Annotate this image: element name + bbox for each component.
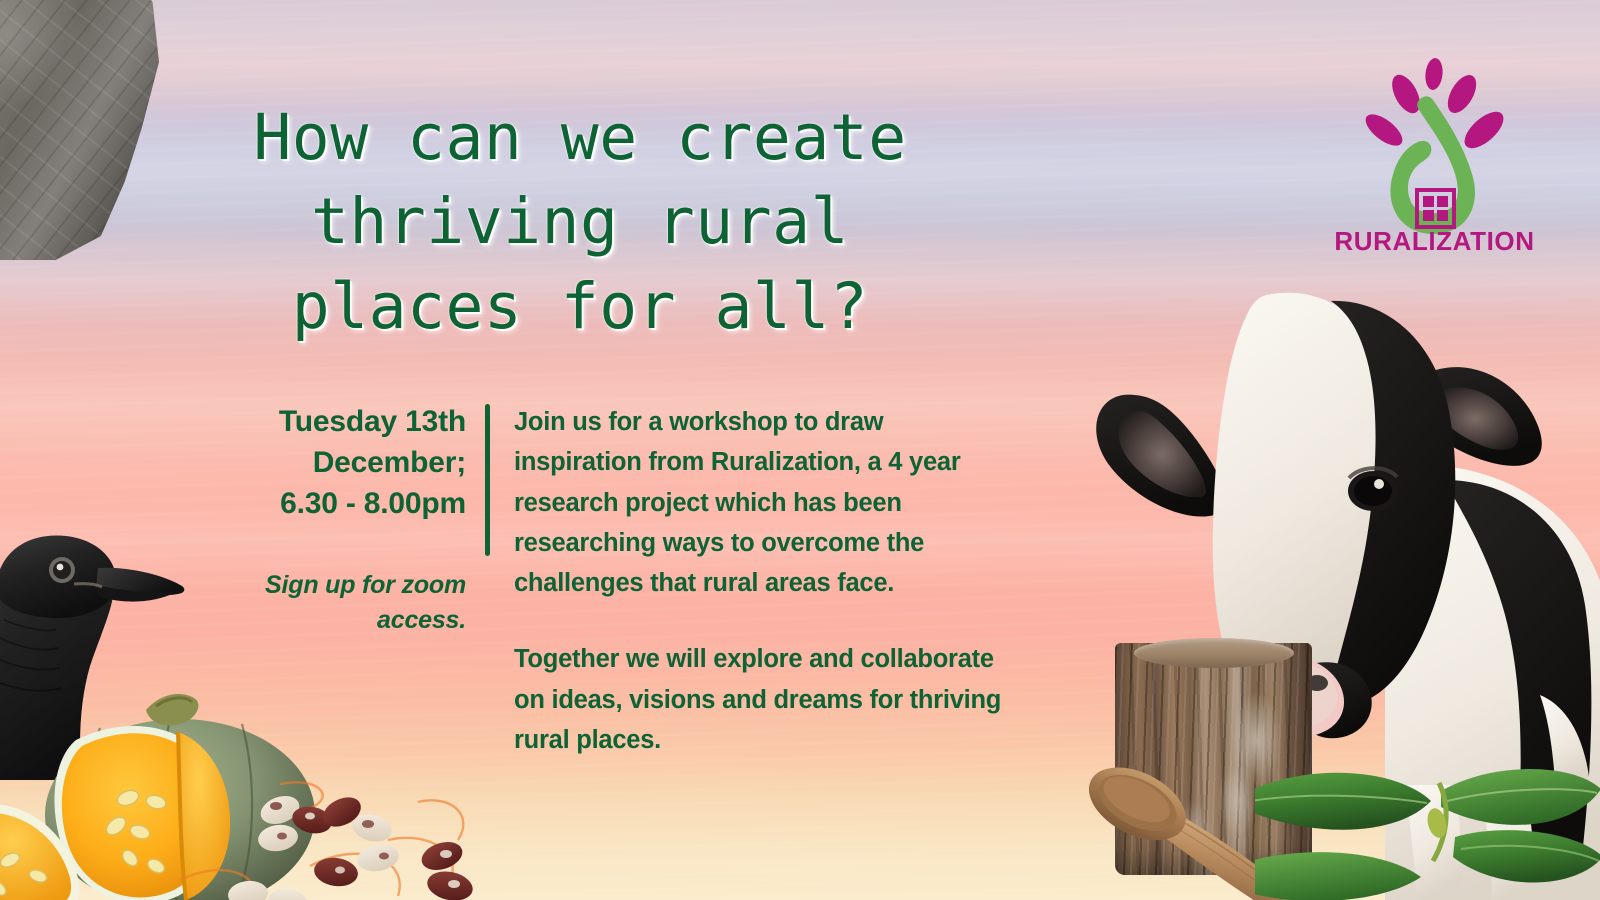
description-column: Join us for a workshop to draw inspirati… [514,402,1014,760]
laurel-leaves-image [1255,745,1600,900]
tree-stump-top-face [1134,638,1294,668]
page-title: How can we create thriving rural places … [130,96,1030,349]
vertical-divider [485,404,490,556]
description-paragraph-2: Together we will explore and collaborate… [514,639,1014,760]
poster-canvas: How can we create thriving rural places … [0,0,1600,900]
signup-note: Sign up for zoom access. [170,568,466,638]
logo-wordmark: RURALIZATION [1312,226,1557,257]
event-date-time: Tuesday 13th December; 6.30 - 8.00pm [170,402,466,524]
cut-green-squash-image [0,680,500,900]
event-details-column: Tuesday 13th December; 6.30 - 8.00pm Sig… [170,402,466,638]
description-paragraph-1: Join us for a workshop to draw inspirati… [514,402,1014,603]
